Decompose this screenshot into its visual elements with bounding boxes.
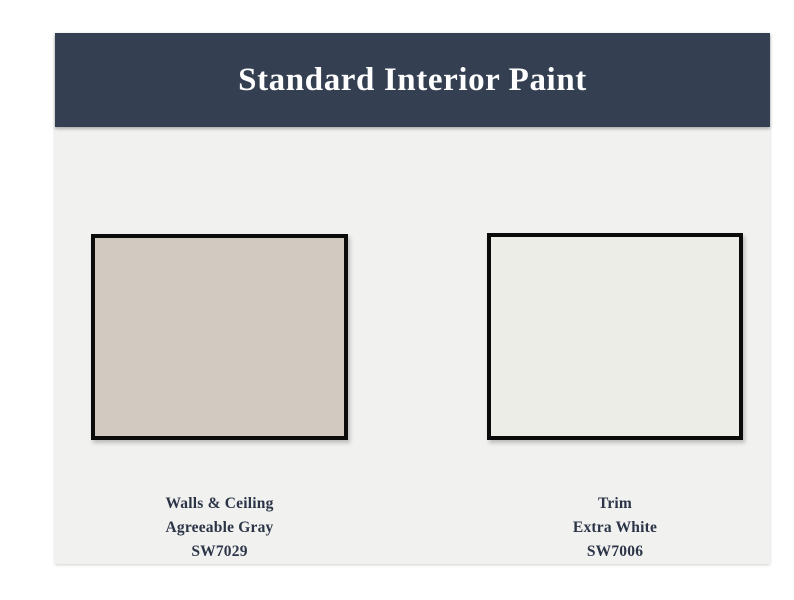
swatch-block-trim: Trim Extra White SW7006 bbox=[487, 233, 743, 564]
swatch-color-name: Agreeable Gray bbox=[91, 516, 348, 540]
swatch-caption-walls-ceiling: Walls & Ceiling Agreeable Gray SW7029 bbox=[91, 492, 348, 564]
swatch-caption-trim: Trim Extra White SW7006 bbox=[487, 492, 743, 564]
swatch-use-label: Walls & Ceiling bbox=[91, 492, 348, 516]
slide-canvas: Standard Interior Paint Walls & Ceiling … bbox=[0, 0, 794, 600]
swatch-color-code: SW7006 bbox=[487, 540, 743, 564]
swatch-color-name: Extra White bbox=[487, 516, 743, 540]
paint-color-slide: Standard Interior Paint Walls & Ceiling … bbox=[55, 33, 770, 564]
title-banner: Standard Interior Paint bbox=[55, 33, 770, 127]
page-title: Standard Interior Paint bbox=[238, 64, 587, 97]
swatch-block-walls-ceiling: Walls & Ceiling Agreeable Gray SW7029 bbox=[91, 234, 348, 564]
color-swatch-agreeable-gray bbox=[91, 234, 348, 440]
swatch-use-label: Trim bbox=[487, 492, 743, 516]
swatch-color-code: SW7029 bbox=[91, 540, 348, 564]
color-swatch-extra-white bbox=[487, 233, 743, 440]
